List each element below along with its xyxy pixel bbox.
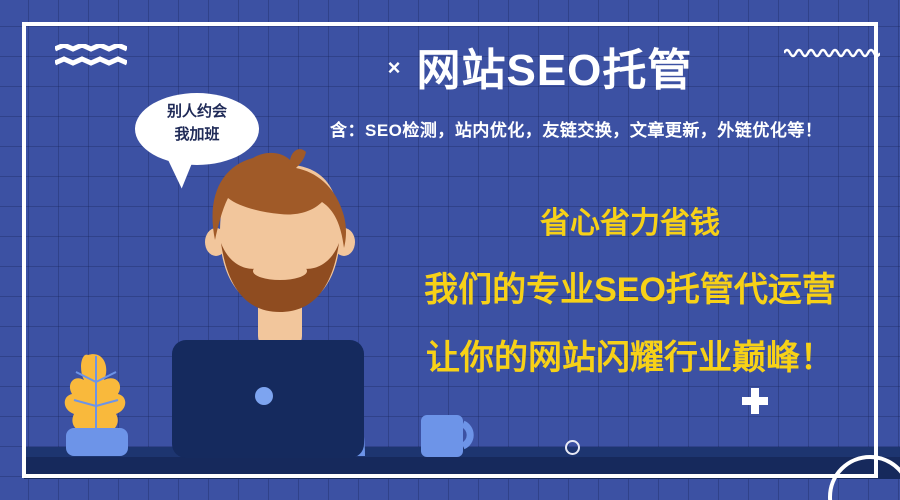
speech-bubble-text: 别人约会 我加班 <box>135 101 259 146</box>
small-circle-outline-icon <box>565 440 580 455</box>
seo-promo-banner: 别人约会 我加班 × 网站SEO托管 含：SEO检测，站内优化，友链交换，文章更… <box>0 0 900 500</box>
banner-frame <box>22 22 878 478</box>
speech-bubble-line-1: 别人约会 <box>135 101 259 124</box>
speech-bubble-line-2: 我加班 <box>135 124 259 147</box>
